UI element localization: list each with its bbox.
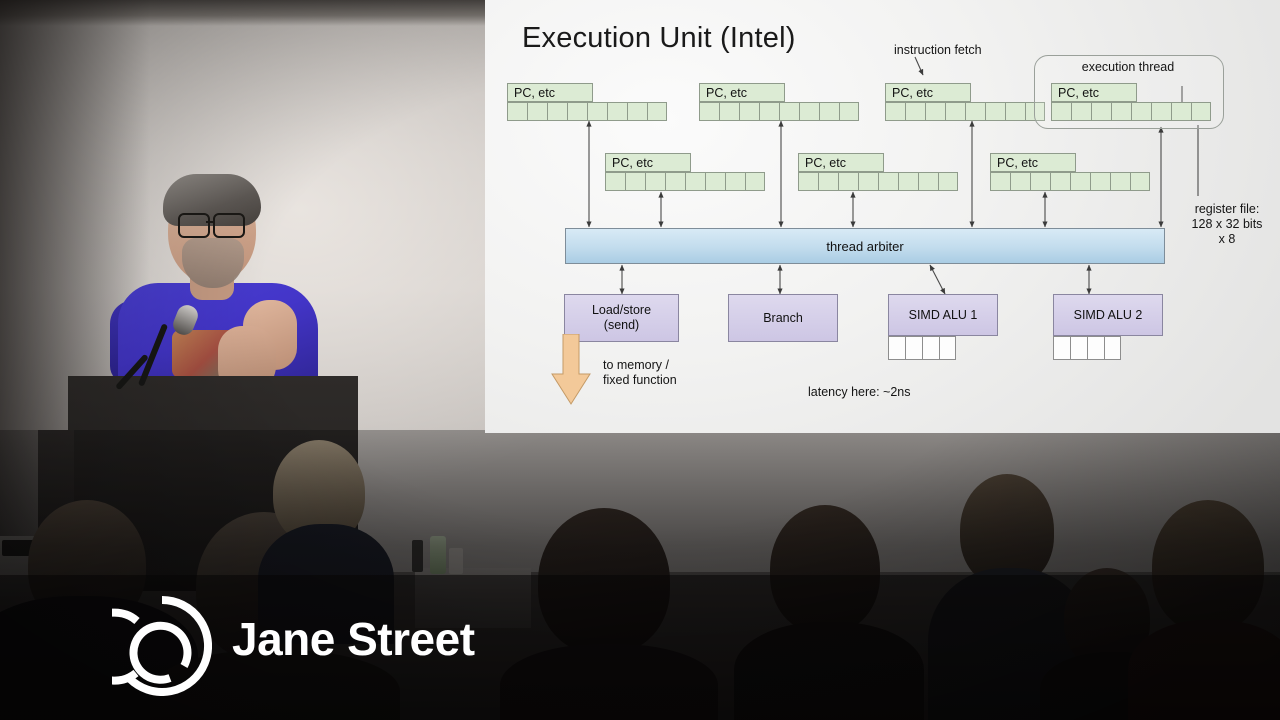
instruction-fetch-label: instruction fetch [894,43,982,58]
pc-block-label: PC, etc [605,153,691,172]
speaker-glasses-left-lens [178,213,210,238]
pc-block-cells [798,172,958,191]
pc-block-label: PC, etc [699,83,785,102]
to-memory-line-1: to memory / [603,358,669,372]
pc-block-label: PC, etc [507,83,593,102]
unit-branch: Branch [728,294,838,342]
speaker-glasses-bridge [206,221,215,223]
unit-simd-alu-1-label: SIMD ALU 1 [909,308,978,323]
thread-arbiter-bar: thread arbiter [565,228,1165,264]
execution-thread-label: execution thread [1034,60,1222,75]
pc-block-cells [990,172,1150,191]
video-frame: Execution Unit (Intel) [0,0,1280,720]
to-memory-line-2: fixed function [603,373,677,387]
simd-alu-2-lanes [1053,336,1121,360]
register-file-line-2: 128 x 32 bits [1192,217,1263,231]
jane-street-logo-icon [112,596,212,696]
presentation-slide: Execution Unit (Intel) [485,0,1280,433]
pc-block-label: PC, etc [990,153,1076,172]
speaker-glasses-right-lens [213,213,245,238]
to-memory-note: to memory / fixed function [603,358,677,388]
pc-block-cells [605,172,765,191]
latency-note: latency here: ~2ns [808,385,911,400]
to-memory-arrow-icon [551,334,591,406]
register-file-line-3: x 8 [1219,232,1236,246]
pc-block-cells [1051,102,1211,121]
pc-block-label: PC, etc [885,83,971,102]
pc-block-label: PC, etc [798,153,884,172]
pc-block-label: PC, etc [1051,83,1137,102]
unit-branch-label: Branch [763,311,803,326]
unit-load-store-line-1: Load/store [592,303,651,318]
pc-block-cells [699,102,859,121]
pc-block-cells [885,102,1045,121]
jane-street-wordmark: Jane Street [232,612,475,666]
unit-simd-alu-2-label: SIMD ALU 2 [1074,308,1143,323]
unit-load-store-line-2: (send) [604,318,639,333]
unit-simd-alu-2: SIMD ALU 2 [1053,294,1163,336]
unit-simd-alu-1: SIMD ALU 1 [888,294,998,336]
thread-arbiter-label: thread arbiter [826,239,903,254]
register-file-note: register file: 128 x 32 bits x 8 [1175,202,1279,247]
pc-block-cells [507,102,667,121]
register-file-line-1: register file: [1195,202,1260,216]
simd-alu-1-lanes [888,336,956,360]
